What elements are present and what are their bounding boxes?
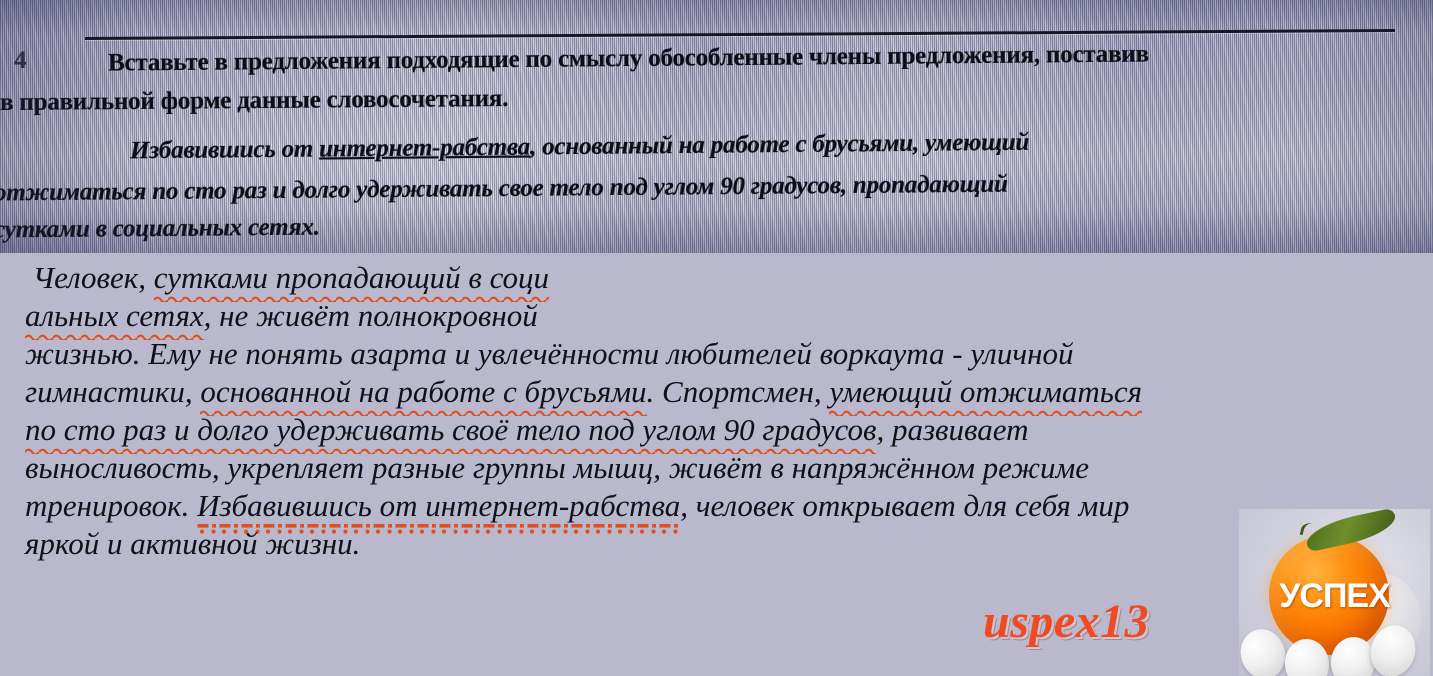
- answer-line-5-plain: , развивает: [876, 412, 1028, 447]
- answer-line-5: по сто раз и долго удерживать своё тело …: [25, 413, 1028, 447]
- horizontal-rule: [85, 29, 1395, 40]
- answer-line-4-plain-a: гимнастики,: [25, 374, 200, 409]
- answer-line-3: жизнью. Ему не понять азарта и увлечённо…: [25, 337, 1074, 371]
- answer-line-4: гимнастики, основанной на работе с брусь…: [25, 375, 1142, 409]
- answer-line-5-wavy-underline: по сто раз и долго удерживать своё тело …: [25, 412, 876, 454]
- phrase-line-3: сутками в социальных сетях.: [0, 214, 320, 245]
- watermark-uspex13: uspex13: [983, 594, 1149, 649]
- answer-line-7-plain-b: , человек открывает для себя мир: [680, 488, 1129, 523]
- answer-line-2: альных сетях, не живёт полнокровной: [25, 299, 538, 333]
- answer-line-4-wavy-underline-a: основанной на работе с брусьями: [200, 374, 646, 416]
- answer-line-1-wavy-underline: сутками пропадающий в соци: [154, 260, 549, 302]
- phrase-line-1-part-c: , основанный на работе с брусьями, умеющ…: [530, 129, 1029, 161]
- phrase-line-1-underlined: интернет-рабства: [319, 133, 530, 162]
- task-text-line-2: в правильной форме данные словосочетания…: [0, 85, 508, 117]
- task-text-line-1: Вставьте в предложения подходящие по смы…: [108, 40, 1149, 77]
- phrase-line-1-part-a: Избавившись от: [130, 136, 319, 165]
- phrase-line-1: Избавившись от интернет-рабства, основан…: [130, 129, 1029, 166]
- answer-line-2-wavy-underline: альных сетях: [25, 298, 204, 340]
- page-root: 4 Вставьте в предложения подходящие по с…: [0, 0, 1433, 676]
- answer-line-7-plain-a: тренировок.: [25, 488, 197, 523]
- answer-line-6: выносливость, укрепляет разные группы мы…: [25, 451, 1089, 485]
- uspeh-logo: УСПЕХ: [1239, 509, 1430, 676]
- exercise-number: 4: [14, 47, 27, 75]
- answer-line-7: тренировок. Избавившись от интернет-рабс…: [25, 489, 1129, 523]
- answer-line-4-wavy-underline-b: умеющий отжиматься: [829, 374, 1142, 416]
- answer-text-block: Человек, сутками пропадающий в соци альн…: [0, 253, 1433, 676]
- textbook-photo: 4 Вставьте в предложения подходящие по с…: [0, 0, 1433, 253]
- answer-line-1-plain: Человек,: [25, 260, 154, 295]
- phrase-line-2: отжиматься по сто раз и долго удерживать…: [0, 171, 1008, 208]
- answer-line-8: яркой и активной жизни.: [25, 527, 360, 561]
- answer-line-2-plain: , не живёт полнокровной: [204, 298, 538, 333]
- answer-line-1: Человек, сутками пропадающий в соци: [25, 261, 549, 295]
- logo-wordmark: УСПЕХ: [1239, 577, 1430, 616]
- answer-line-4-plain-b: . Спортсмен,: [647, 374, 830, 409]
